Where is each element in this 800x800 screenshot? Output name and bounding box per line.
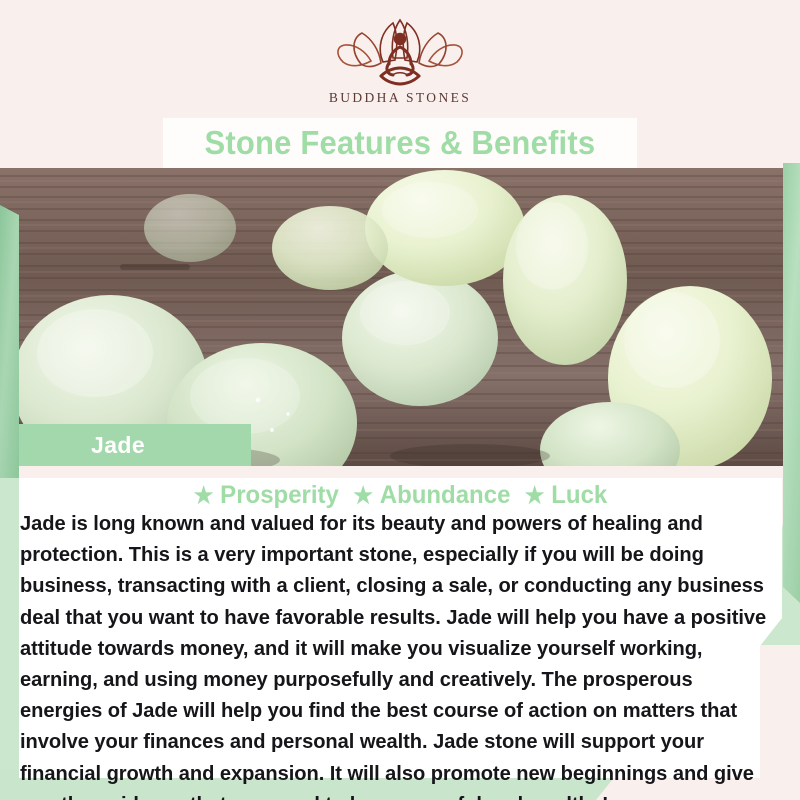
star-icon: ★ bbox=[353, 482, 373, 508]
card-top-gap bbox=[19, 466, 782, 479]
star-icon: ★ bbox=[194, 482, 214, 508]
description-text: Jade is long known and valued for its be… bbox=[20, 509, 776, 800]
star-icon: ★ bbox=[525, 482, 545, 508]
stone-benefits-poster: BUDDHA STONES bbox=[0, 0, 800, 800]
page-title: Stone Features & Benefits bbox=[205, 124, 596, 162]
title-banner: Stone Features & Benefits bbox=[163, 118, 637, 168]
decor-band-left bbox=[0, 205, 19, 478]
jade-stones-photo bbox=[0, 168, 800, 466]
decor-band-right bbox=[783, 163, 800, 603]
keyword-item-1: ★ Abundance bbox=[353, 481, 510, 509]
stone-name-bar: Jade bbox=[19, 424, 251, 466]
brand-name: BUDDHA STONES bbox=[329, 90, 471, 106]
keyword-label-2: Luck bbox=[551, 481, 607, 509]
decor-strip-left-lower bbox=[0, 466, 19, 786]
keyword-label-0: Prosperity bbox=[220, 481, 339, 509]
keyword-list: ★ Prosperity ★ Abundance ★ Luck bbox=[34, 481, 766, 510]
jade-stones-photo-graphic bbox=[0, 168, 800, 466]
lotus-meditation-figure-icon bbox=[325, 14, 475, 88]
keyword-label-1: Abundance bbox=[380, 481, 511, 509]
stone-name-label: Jade bbox=[91, 432, 145, 459]
keyword-item-2: ★ Luck bbox=[525, 481, 608, 509]
brand-header: BUDDHA STONES bbox=[0, 14, 800, 124]
keyword-item-0: ★ Prosperity bbox=[194, 481, 339, 509]
